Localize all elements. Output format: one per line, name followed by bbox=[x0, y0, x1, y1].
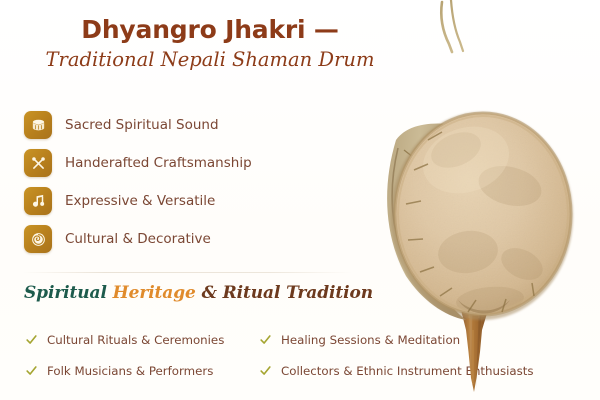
feature-label: Expressive & Versatile bbox=[65, 193, 215, 209]
drum-icon bbox=[24, 111, 52, 139]
audience-item-healing-sessions: Healing Sessions & Meditation bbox=[258, 324, 580, 355]
audience-label: Collectors & Ethnic Instrument Enthusias… bbox=[281, 364, 534, 378]
check-icon bbox=[258, 364, 272, 378]
audience-item-folk-musicians: Folk Musicians & Performers bbox=[24, 355, 242, 386]
check-icon bbox=[24, 364, 38, 378]
drum-head bbox=[391, 112, 573, 320]
page-title: Dhyangro Jhakri — bbox=[0, 16, 420, 44]
feature-label: Handerafted Craftsmanship bbox=[65, 155, 252, 171]
section-divider bbox=[22, 272, 352, 273]
check-icon bbox=[24, 333, 38, 347]
heritage-word-ritual-tradition: & Ritual Tradition bbox=[202, 283, 373, 303]
audience-item-cultural-rituals: Cultural Rituals & Ceremonies bbox=[24, 324, 242, 355]
audience-item-collectors: Collectors & Ethnic Instrument Enthusias… bbox=[258, 355, 580, 386]
heritage-heading: Spiritual Heritage & Ritual Tradition bbox=[24, 283, 373, 303]
heritage-word-heritage: Heritage bbox=[113, 283, 196, 303]
title-block: Dhyangro Jhakri — Traditional Nepali Sha… bbox=[0, 16, 420, 72]
drum-rim bbox=[387, 124, 466, 320]
feature-label: Sacred Spiritual Sound bbox=[65, 117, 219, 133]
crossed-mallets-icon bbox=[24, 149, 52, 177]
audience-label: Folk Musicians & Performers bbox=[47, 364, 213, 378]
drum-lacing bbox=[404, 140, 450, 298]
feature-item-expressive-versatile: Expressive & Versatile bbox=[24, 182, 354, 220]
heritage-word-spiritual: Spiritual bbox=[24, 283, 107, 303]
feature-item-handcrafted-craftsmanship: Handerafted Craftsmanship bbox=[24, 144, 354, 182]
poster-canvas: Dhyangro Jhakri — Traditional Nepali Sha… bbox=[0, 0, 600, 400]
music-note-icon bbox=[24, 187, 52, 215]
audience-list: Cultural Rituals & Ceremonies Healing Se… bbox=[24, 324, 580, 386]
audience-label: Cultural Rituals & Ceremonies bbox=[47, 333, 224, 347]
spiral-mandala-icon bbox=[24, 225, 52, 253]
check-icon bbox=[258, 333, 272, 347]
audience-label: Healing Sessions & Meditation bbox=[281, 333, 460, 347]
drum-hanging-cord bbox=[441, 0, 463, 52]
feature-item-sacred-spiritual-sound: Sacred Spiritual Sound bbox=[24, 106, 354, 144]
feature-list: Sacred Spiritual Sound Handerafted Craft… bbox=[24, 106, 354, 258]
feature-label: Cultural & Decorative bbox=[65, 231, 211, 247]
page-subtitle: Traditional Nepali Shaman Drum bbox=[0, 47, 420, 72]
feature-item-cultural-decorative: Cultural & Decorative bbox=[24, 220, 354, 258]
